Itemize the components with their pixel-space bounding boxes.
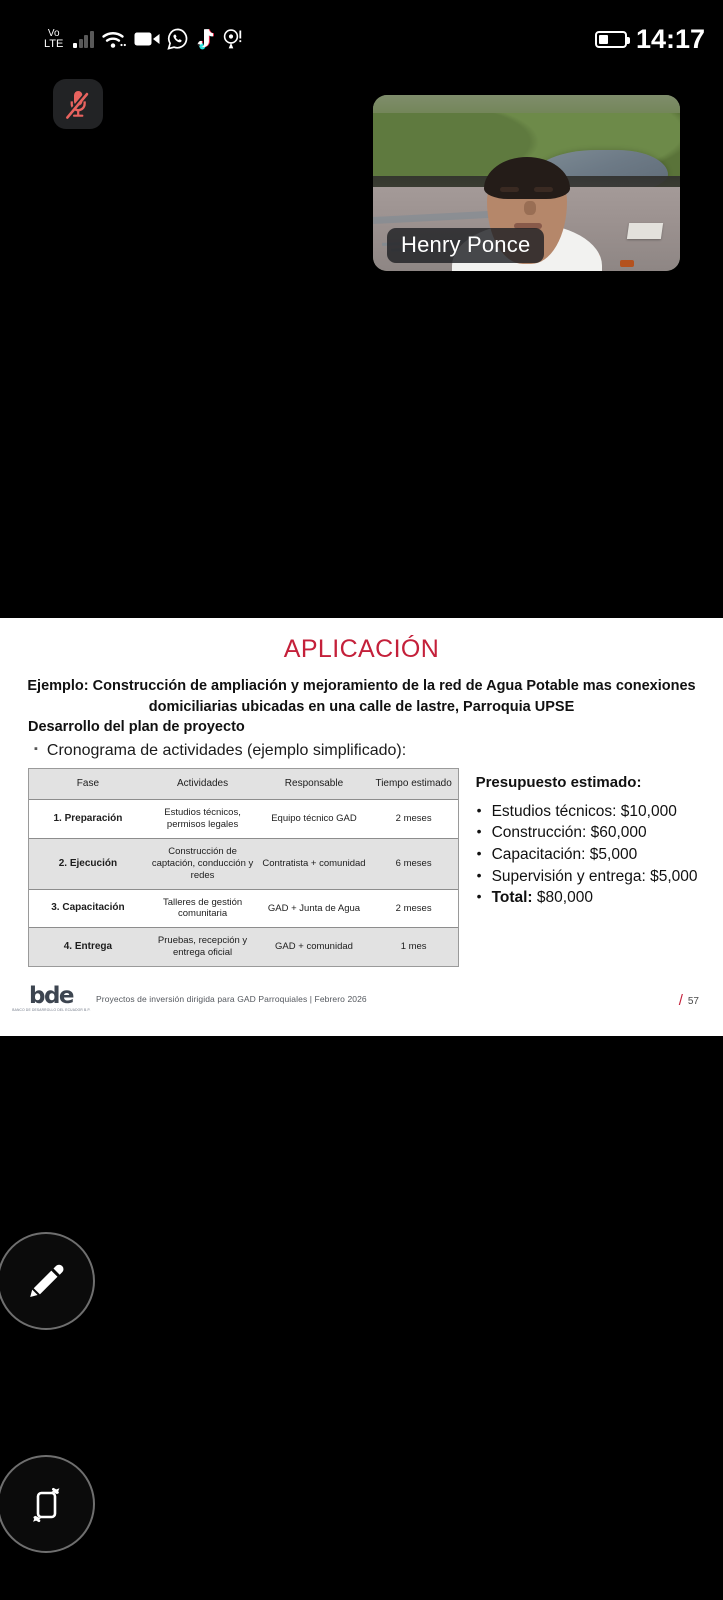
participant-name-label: Henry Ponce: [387, 228, 544, 263]
cell-tiempo: 1 mes: [370, 928, 458, 966]
bde-logo-wordmark: bde: [29, 985, 73, 1008]
cell-tiempo: 2 meses: [370, 800, 458, 839]
location-alert-icon: [223, 28, 243, 50]
screen-rotate-icon: [22, 1479, 70, 1529]
cell-responsable: Contratista + comunidad: [258, 838, 369, 889]
whatsapp-icon: [167, 28, 189, 50]
list-item: Estudios técnicos: $10,000: [476, 802, 723, 823]
list-item: Supervisión y entrega: $5,000: [476, 867, 723, 888]
battery-level-fill: [599, 35, 608, 44]
bde-logo: bde BANCO DE DESARROLLO DEL ECUADOR B.P.: [24, 985, 78, 1012]
status-bar: Vo LTE: [0, 0, 723, 78]
microphone-muted-icon: [63, 88, 93, 120]
tiktok-icon: [196, 28, 216, 50]
slide-page-number: / 57: [679, 991, 699, 1008]
table-header: Fase Actividades Responsable Tiempo esti…: [29, 769, 458, 800]
list-item: Construcción: $60,000: [476, 823, 723, 844]
slide-subheading: Desarrollo del plan de proyecto: [28, 717, 723, 738]
participant-video-tile[interactable]: Henry Ponce: [373, 95, 680, 271]
cronograma-table: Fase Actividades Responsable Tiempo esti…: [29, 769, 458, 966]
slide-bullet-cronograma: ▪ Cronograma de actividades (ejemplo sim…: [34, 742, 723, 760]
status-bar-clock: 14:17: [636, 26, 705, 53]
cell-responsable: GAD + comunidad: [258, 928, 369, 966]
bullet-dot-icon: ▪: [34, 744, 38, 755]
cell-actividades: Pruebas, recepción y entrega oficial: [147, 928, 258, 966]
budget-list: Estudios técnicos: $10,000 Construcción:…: [476, 802, 723, 909]
status-bar-left-icons: Vo LTE: [44, 28, 243, 50]
person-left-eye: [500, 187, 519, 192]
cell-actividades: Estudios técnicos, permisos legales: [147, 800, 258, 839]
budget-title: Presupuesto estimado:: [476, 774, 723, 791]
table-row: 3. Capacitación Talleres de gestión comu…: [29, 889, 458, 928]
volte-label-bottom: LTE: [44, 39, 63, 49]
cell-responsable: Equipo técnico GAD: [258, 800, 369, 839]
cell-fase: 3. Capacitación: [29, 889, 147, 928]
budget-total-value: $80,000: [537, 889, 593, 906]
cell-actividades: Talleres de gestión comunitaria: [147, 889, 258, 928]
slide-footer: bde BANCO DE DESARROLLO DEL ECUADOR B.P.…: [0, 984, 723, 1014]
list-item: Capacitación: $5,000: [476, 845, 723, 866]
volte-icon: Vo LTE: [44, 29, 63, 49]
slide-footer-text: Proyectos de inversión dirigida para GAD…: [96, 994, 367, 1004]
rotate-screen-button[interactable]: [0, 1455, 95, 1553]
presentation-slide[interactable]: APLICACIÓN Ejemplo: Construcción de ampl…: [0, 618, 723, 1036]
slide-bullet-text: Cronograma de actividades (ejemplo simpl…: [47, 742, 406, 760]
battery-low-icon: [595, 31, 627, 48]
column-header-fase: Fase: [29, 769, 147, 800]
column-header-responsable: Responsable: [258, 769, 369, 800]
cell-fase: 1. Preparación: [29, 800, 147, 839]
cell-responsable: GAD + Junta de Agua: [258, 889, 369, 928]
cell-fase: 4. Entrega: [29, 928, 147, 966]
edit-annotate-button[interactable]: [0, 1232, 95, 1330]
microphone-muted-badge[interactable]: [53, 79, 103, 129]
signal-bars-icon: [73, 30, 94, 48]
slide-title: APLICACIÓN: [0, 635, 723, 664]
cell-actividades: Construcción de captación, conducción y …: [147, 838, 258, 889]
table-row: 2. Ejecución Construcción de captación, …: [29, 838, 458, 889]
person-right-eye: [534, 187, 553, 192]
person-nose: [524, 201, 536, 215]
person-hair: [484, 157, 570, 199]
video-camera-icon: [134, 30, 160, 48]
table-row: 1. Preparación Estudios técnicos, permis…: [29, 800, 458, 839]
status-bar-right: 14:17: [595, 26, 705, 53]
slide-heading: Ejemplo: Construcción de ampliación y me…: [22, 676, 701, 717]
table-body: 1. Preparación Estudios técnicos, permis…: [29, 800, 458, 966]
wifi-icon: [101, 28, 127, 50]
budget-section: Presupuesto estimado: Estudios técnicos:…: [476, 768, 723, 910]
column-header-tiempo: Tiempo estimado: [370, 769, 458, 800]
cell-fase: 2. Ejecución: [29, 838, 147, 889]
table-row: 4. Entrega Pruebas, recepción y entrega …: [29, 928, 458, 966]
pencil-icon: [23, 1258, 69, 1304]
cell-tiempo: 2 meses: [370, 889, 458, 928]
cronograma-table-wrapper: Fase Actividades Responsable Tiempo esti…: [28, 768, 459, 967]
table-header-row: Fase Actividades Responsable Tiempo esti…: [29, 769, 458, 800]
bde-logo-tagline: BANCO DE DESARROLLO DEL ECUADOR B.P.: [12, 1009, 90, 1012]
column-header-actividades: Actividades: [147, 769, 258, 800]
slide-body: Fase Actividades Responsable Tiempo esti…: [0, 768, 723, 967]
budget-total-label: Total:: [492, 889, 533, 906]
page-number-slash: /: [679, 992, 683, 1009]
page-number-value: 57: [688, 996, 699, 1007]
list-item-total: Total: $80,000: [476, 888, 723, 909]
cell-tiempo: 6 meses: [370, 838, 458, 889]
